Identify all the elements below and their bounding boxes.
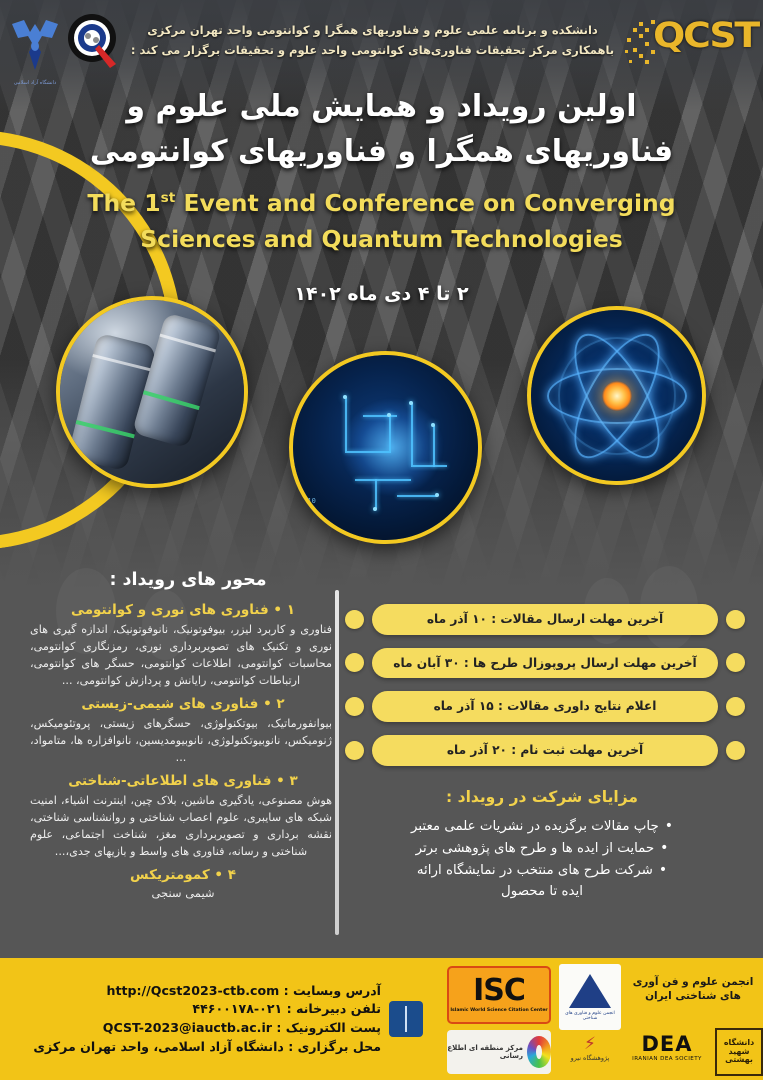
deadline-pill: آخرین مهلت ثبت نام : ۲۰ آذر ماه [372, 735, 718, 766]
lens-green-band [143, 390, 200, 410]
circuit-trace [433, 425, 435, 467]
circuit-trace [375, 479, 377, 509]
circuit-node [387, 413, 391, 417]
english-title-line-1: The 1st Event and Conference on Convergi… [45, 185, 718, 221]
binary-digits: 0110 0100 1001 1001 [299, 497, 316, 532]
microscope-photo [60, 300, 244, 484]
benefit-item: شرکت طرح های منتخب در نمایشگاه ارائه [345, 859, 739, 881]
cognitive-society-logo: انجمن علوم و فناوری های شناختی [559, 964, 621, 1030]
triangle-icon [569, 974, 611, 1008]
circuit-node [373, 507, 377, 511]
azad-university-logo: دانشگاه آزاد اسلامی [8, 12, 62, 86]
bullet-dot-icon [726, 610, 745, 629]
topic-title: ۱ • فناوری های نوری و کوانتومی [16, 602, 338, 618]
circuit-node [431, 423, 435, 427]
dea-society-logo: DEA IRANIAN DEA SOCIETY [625, 1034, 709, 1076]
header-line-1: دانشکده و برنامه علمی علوم و فناوریهای ه… [122, 20, 623, 40]
topic-description: بیوانفورماتیک، بیوتکنولوژی، حسگرهای زیست… [16, 715, 338, 766]
deadline-pill: آخرین مهلت ارسال مقالات : ۱۰ آذر ماه [372, 604, 718, 635]
ai-brain-circuit-photo: 0110 0100 1001 1001 [293, 355, 478, 540]
contact-email[interactable]: پست الکترونیک : QCST-2023@iauctb.ac.ir [0, 1019, 381, 1038]
bullet-dot-icon [726, 697, 745, 716]
topic-label: فناوری های نوری و کوانتومی [71, 602, 269, 618]
sbu-label: دانشگاه شهید بهشتی [717, 1039, 761, 1065]
qcst-circular-logo [66, 12, 122, 68]
topic-number: ۲ • [263, 696, 285, 712]
deadline-pill: آخرین مهلت ارسال پروپوزال طرح ها : ۳۰ آب… [372, 648, 718, 679]
contact-venue: محل برگزاری : دانشگاه آزاد اسلامی، واحد … [0, 1038, 381, 1057]
persian-title: اولین رویداد و همایش ملی علوم و فناوریها… [0, 84, 763, 174]
ai-brain-image: 0110 0100 1001 1001 [289, 351, 482, 544]
circuit-trace [355, 479, 411, 481]
poster-footer: ISC Islamic World Science Citation Cente… [0, 958, 763, 1080]
circuit-trace [397, 495, 437, 497]
topics-heading: محور های رویداد : [16, 570, 338, 590]
circuit-node [435, 493, 439, 497]
circuit-trace [345, 397, 347, 451]
lens-highlight [159, 334, 216, 353]
deadline-row: آخرین مهلت ارسال پروپوزال طرح ها : ۳۰ آب… [345, 648, 745, 679]
topic-item: ۳ • فناوری های اطلاعاتی-شناختی هوش مصنوع… [16, 773, 338, 860]
topic-item: ۴ • کمومتریکس شیمی سنجی [16, 867, 338, 900]
sponsor-logos: ISC Islamic World Science Citation Cente… [433, 958, 763, 1080]
bullet-dot-icon [345, 610, 364, 629]
topic-item: ۱ • فناوری های نوری و کوانتومی فناوری و … [16, 602, 338, 689]
circuit-trace [363, 415, 397, 417]
cognitive-society-caption: انجمن علوم و فناوری های شناختی [559, 1011, 621, 1021]
atom-image [527, 306, 706, 485]
benefit-item: حمایت از ایده ها و طرح های پژوهشی برتر [345, 837, 739, 859]
regional-info-center-logo: مرکز منطقه ای اطلاع رسانی [447, 1030, 551, 1074]
circuit-trace [345, 451, 389, 453]
regional-center-label: مرکز منطقه ای اطلاع رسانی [447, 1044, 523, 1060]
bullet-dot-icon [345, 653, 364, 672]
bullet-dot-icon [726, 653, 745, 672]
english-title: The 1st Event and Conference on Convergi… [0, 185, 763, 258]
topic-title: ۲ • فناوری های شیمی-زیستی [16, 696, 338, 712]
dea-subtitle: IRANIAN DEA SOCIETY [625, 1056, 709, 1062]
isc-wordmark: ISC [473, 977, 525, 1006]
shahid-beheshti-university-logo: دانشگاه شهید بهشتی [715, 1028, 763, 1076]
english-title-rest: Event and Conference on Converging [183, 189, 675, 217]
dea-wordmark: DEA [625, 1034, 709, 1055]
contact-lines: آدرس وبسایت : http://Qcst2023-ctb.com تل… [0, 982, 381, 1057]
azad-wing-icon [8, 12, 62, 74]
topic-title: ۳ • فناوری های اطلاعاتی-شناختی [16, 773, 338, 789]
deadline-row: آخرین مهلت ثبت نام : ۲۰ آذر ماه [345, 735, 745, 766]
topic-description: شیمی سنجی [16, 886, 338, 900]
atom-nucleus [602, 381, 632, 411]
contact-website[interactable]: آدرس وبسایت : http://Qcst2023-ctb.com [0, 982, 381, 1001]
lightning-bolt-icon: ⚡ [561, 1036, 619, 1053]
topic-label: کمومتریکس [130, 867, 210, 883]
conference-poster: QCST دانشکده و برنامه علمی علوم و فناوری… [0, 0, 763, 1080]
bullet-dot-icon [345, 741, 364, 760]
qcst-wordmark: QCST [653, 16, 758, 56]
topic-label: فناوری های اطلاعاتی-شناختی [68, 773, 271, 789]
topic-title: ۴ • کمومتریکس [16, 867, 338, 883]
bullet-dot-icon [345, 697, 364, 716]
lens-green-band [76, 420, 135, 438]
topic-description: هوش مصنوعی، یادگیری ماشین، بلاک چین، این… [16, 792, 338, 860]
lens-highlight [92, 354, 151, 371]
brain-glow [341, 399, 443, 495]
circuit-trace [389, 415, 391, 453]
header-logo-group: دانشگاه آزاد اسلامی [8, 10, 122, 86]
english-title-prefix: The 1 [87, 189, 160, 217]
topic-number: ۴ • [214, 867, 236, 883]
niroo-research-logo: ⚡ پژوهشگاه نیرو [561, 1036, 619, 1076]
circuit-node [409, 401, 413, 405]
persian-title-line-1: اولین رویداد و همایش ملی علوم و [40, 84, 723, 129]
benefits-section: مزایای شرکت در رویداد : چاپ مقالات برگزی… [345, 788, 745, 903]
cognitive-society-name: انجمن علوم و فن آوری های شناختی ایران [629, 976, 757, 1003]
qcst-logo: QCST [623, 12, 755, 74]
bullet-dot-icon [726, 741, 745, 760]
deadline-pill: اعلام نتایج داوری مقالات : ۱۵ آذر ماه [372, 691, 718, 722]
circuit-trace [411, 465, 447, 467]
contact-phone: تلفن دبیرخانه : ۰۲۱-۴۴۶۰۰۱۷۸ [0, 1000, 381, 1019]
deadlines-column: آخرین مهلت ارسال مقالات : ۱۰ آذر ماه آخر… [345, 604, 745, 902]
poster-header: QCST دانشکده و برنامه علمی علوم و فناوری… [0, 0, 763, 92]
benefit-item: چاپ مقالات برگزیده در نشریات علمی معتبر [345, 815, 739, 837]
topic-label: فناوری های شیمی-زیستی [81, 696, 258, 712]
event-date: ۲ تا ۴ دی ماه ۱۴۰۲ [0, 283, 763, 305]
topic-number: ۱ • [273, 602, 295, 618]
header-line-2: باهمکاری مرکز تحقیقات فناوری‌های کوانتوم… [122, 40, 623, 60]
ordinal-suffix: st [161, 190, 176, 206]
deadline-row: آخرین مهلت ارسال مقالات : ۱۰ آذر ماه [345, 604, 745, 635]
circuit-node [343, 395, 347, 399]
persian-title-line-2: فناوریهای همگرا و فناوریهای کوانتومی [40, 129, 723, 174]
niroo-label: پژوهشگاه نیرو [561, 1054, 619, 1062]
deadline-row: اعلام نتایج داوری مقالات : ۱۵ آذر ماه [345, 691, 745, 722]
topic-description: فناوری و کاربرد لیزر، بیوفوتونیک، نانوفو… [16, 621, 338, 689]
benefit-continuation: ایده تا محصول [345, 881, 739, 902]
rainbow-rings-icon [527, 1036, 551, 1068]
circuit-trace [411, 403, 413, 465]
english-title-line-2: Sciences and Quantum Technologies [45, 221, 718, 257]
book-icon [389, 1001, 423, 1037]
contact-block: آدرس وبسایت : http://Qcst2023-ctb.com تل… [0, 958, 433, 1080]
isc-logo: ISC Islamic World Science Citation Cente… [447, 966, 551, 1024]
atom-orbit-photo [531, 310, 702, 481]
poster-body: محور های رویداد : ۱ • فناوری های نوری و … [0, 570, 763, 960]
benefits-heading: مزایای شرکت در رویداد : [345, 788, 739, 806]
topic-number: ۳ • [276, 773, 298, 789]
isc-subtitle: Islamic World Science Citation Center [450, 1008, 547, 1013]
qcst-circle-icon [66, 12, 122, 68]
microscope-image [56, 296, 248, 488]
topic-item: ۲ • فناوری های شیمی-زیستی بیوانفورماتیک،… [16, 696, 338, 766]
header-organizer-text: دانشکده و برنامه علمی علوم و فناوریهای ه… [122, 10, 623, 60]
topics-column: محور های رویداد : ۱ • فناوری های نوری و … [8, 570, 338, 907]
